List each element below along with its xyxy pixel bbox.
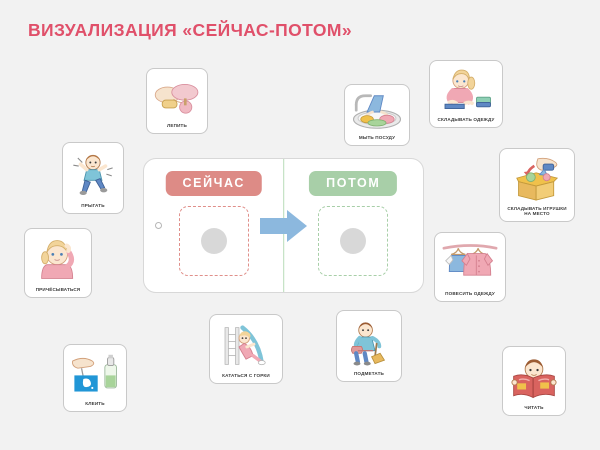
card-label: ПРИЧЁСЫВАТЬСЯ — [28, 285, 88, 294]
card-prichesyvatsya[interactable]: ПРИЧЁСЫВАТЬСЯ — [24, 228, 92, 298]
slot-later-placeholder-dot — [340, 228, 366, 254]
transition-arrow-icon — [260, 209, 308, 243]
card-label: ПОДМЕТАТЬ — [340, 369, 398, 378]
boy-jumping-icon — [66, 148, 120, 201]
card-label: КЛЕИТЬ — [67, 399, 123, 408]
slot-now[interactable] — [179, 206, 249, 276]
girl-folding-clothes-icon — [433, 66, 499, 115]
card-lepit[interactable]: ЛЕПИТЬ — [146, 68, 208, 134]
card-kleit[interactable]: КЛЕИТЬ — [63, 344, 127, 412]
phase-label-now: СЕЙЧАС — [166, 171, 262, 196]
clothes-hanger-icon — [438, 238, 502, 289]
girl-combing-hair-icon — [28, 234, 88, 285]
card-label: ПРЫГАТЬ — [66, 201, 120, 210]
page-title: ВИЗУАЛИЗАЦИЯ «СЕЙЧАС-ПОТОМ» — [28, 20, 352, 41]
card-label: ЧИТАТЬ — [506, 403, 562, 412]
hands-clay-icon — [150, 74, 204, 121]
card-kataniye[interactable]: КАТАТЬСЯ С ГОРКИ — [209, 314, 283, 384]
toy-box-icon — [503, 154, 571, 204]
slot-later[interactable] — [318, 206, 388, 276]
card-label: СКЛАДЫВАТЬ ИГРУШКИ НА МЕСТО — [503, 204, 571, 218]
card-label: КАТАТЬСЯ С ГОРКИ — [213, 371, 279, 380]
card-skladyvat-odezhdu[interactable]: СКЛАДЫВАТЬ ОДЕЖДУ — [429, 60, 503, 128]
card-myt-posudu[interactable]: МЫТЬ ПОСУДУ — [344, 84, 410, 146]
card-label: ПОВЕСИТЬ ОДЕЖДУ — [438, 289, 502, 298]
card-label: ЛЕПИТЬ — [150, 121, 204, 130]
card-povesit-odezhdu[interactable]: ПОВЕСИТЬ ОДЕЖДУ — [434, 232, 506, 302]
boy-reading-book-icon — [506, 352, 562, 403]
slot-now-placeholder-dot — [201, 228, 227, 254]
card-prygat[interactable]: ПРЫГАТЬ — [62, 142, 124, 214]
boy-sweeping-icon — [340, 316, 398, 369]
card-podmetat[interactable]: ПОДМЕТАТЬ — [336, 310, 402, 382]
phase-label-later: ПОТОМ — [309, 171, 397, 196]
child-on-slide-icon — [213, 320, 279, 371]
card-chitat[interactable]: ЧИТАТЬ — [502, 346, 566, 416]
now-then-board[interactable]: СЕЙЧАС ПОТОМ — [143, 158, 424, 293]
card-igrushki[interactable]: СКЛАДЫВАТЬ ИГРУШКИ НА МЕСТО — [499, 148, 575, 222]
sink-dishes-icon — [348, 90, 406, 133]
card-label: СКЛАДЫВАТЬ ОДЕЖДУ — [433, 115, 499, 124]
glue-bottle-icon — [67, 350, 123, 399]
card-label: МЫТЬ ПОСУДУ — [348, 133, 406, 142]
